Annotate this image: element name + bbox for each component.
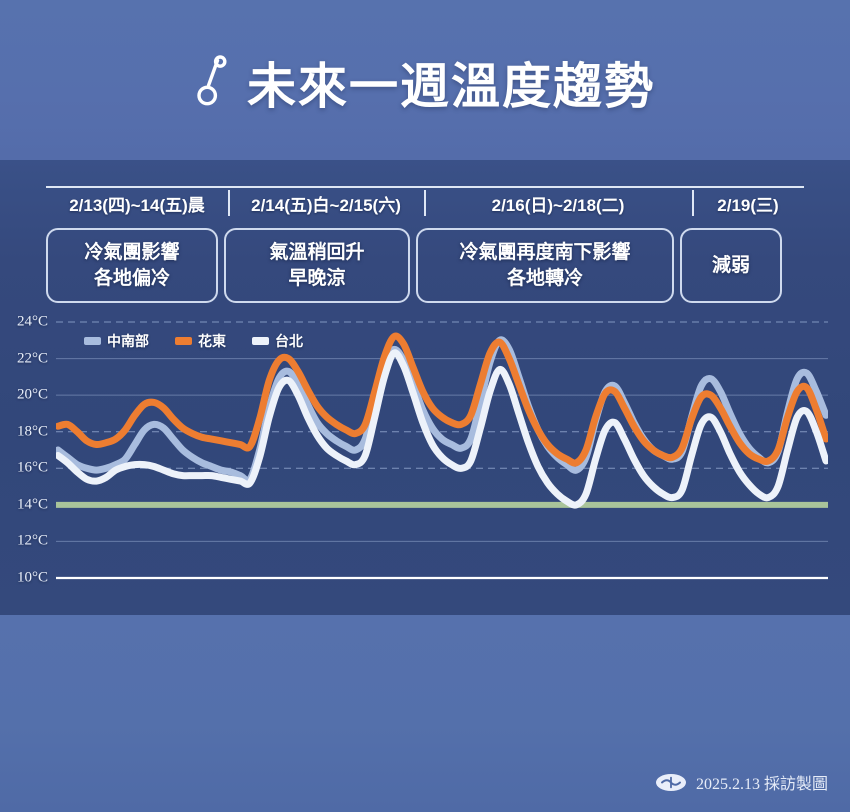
forecast-box-4: 減弱	[680, 228, 782, 303]
y-tick-16: 16°C	[17, 460, 48, 477]
legend-item-1[interactable]: 中南部	[84, 331, 149, 351]
legend-item-2[interactable]: 花東	[175, 331, 226, 351]
y-tick-12: 12°C	[17, 533, 48, 550]
chart-legend: 中南部花東台北	[84, 331, 303, 351]
date-range-2: 2/14(五)白~2/15(六)	[228, 188, 424, 218]
date-range-4: 2/19(三)	[692, 188, 804, 218]
forecast-box-3: 冷氣團再度南下影響各地轉冷	[416, 228, 674, 303]
forecast-text-line-1: 冷氣團影響	[84, 240, 179, 265]
forecast-text-line-2: 早晚涼	[288, 266, 345, 291]
chart-svg	[56, 310, 828, 590]
y-tick-10: 10°C	[17, 570, 48, 587]
header-band: 未來一週溫度趨勢	[0, 0, 850, 160]
broadcast-logo-icon	[655, 773, 687, 792]
y-tick-20: 20°C	[17, 387, 48, 404]
forecast-text-line-1: 氣溫稍回升	[269, 240, 364, 265]
legend-label: 台北	[275, 331, 303, 351]
description-row: 冷氣團影響各地偏冷氣溫稍回升早晚涼冷氣團再度南下影響各地轉冷減弱	[46, 228, 804, 303]
thermometer-icon	[195, 55, 229, 109]
title-group: 未來一週溫度趨勢	[195, 47, 655, 118]
temperature-chart: 24°C22°C20°C18°C16°C14°C12°C10°C	[0, 310, 850, 590]
legend-item-3[interactable]: 台北	[252, 331, 303, 351]
legend-swatch-icon	[252, 337, 269, 345]
y-tick-14: 14°C	[17, 496, 48, 513]
legend-swatch-icon	[84, 337, 101, 345]
y-tick-18: 18°C	[17, 423, 48, 440]
forecast-box-2: 氣溫稍回升早晚涼	[224, 228, 410, 303]
date-range-3: 2/16(日)~2/18(二)	[424, 188, 692, 218]
page-title: 未來一週溫度趨勢	[247, 47, 655, 118]
legend-label: 花東	[198, 331, 226, 351]
footer-text: 2025.2.13 採訪製圖	[696, 770, 828, 794]
legend-label: 中南部	[107, 331, 149, 351]
forecast-text-line-2: 各地偏冷	[94, 266, 170, 291]
date-header-row: 2/13(四)~14(五)晨2/14(五)白~2/15(六)2/16(日)~2/…	[46, 186, 804, 218]
chart-plot-area	[56, 310, 828, 590]
forecast-text-line-1: 減弱	[712, 253, 750, 278]
forecast-text-line-1: 冷氣團再度南下影響	[459, 240, 630, 265]
forecast-text-line-2: 各地轉冷	[507, 266, 583, 291]
footer-credit: 2025.2.13 採訪製圖	[655, 770, 828, 794]
y-tick-22: 22°C	[17, 350, 48, 367]
legend-swatch-icon	[175, 337, 192, 345]
y-tick-24: 24°C	[17, 314, 48, 331]
infographic-root: 未來一週溫度趨勢 2/13(四)~14(五)晨2/14(五)白~2/15(六)2…	[0, 0, 850, 812]
forecast-box-1: 冷氣團影響各地偏冷	[46, 228, 218, 303]
y-axis-labels: 24°C22°C20°C18°C16°C14°C12°C10°C	[0, 310, 52, 590]
date-range-1: 2/13(四)~14(五)晨	[46, 188, 228, 218]
